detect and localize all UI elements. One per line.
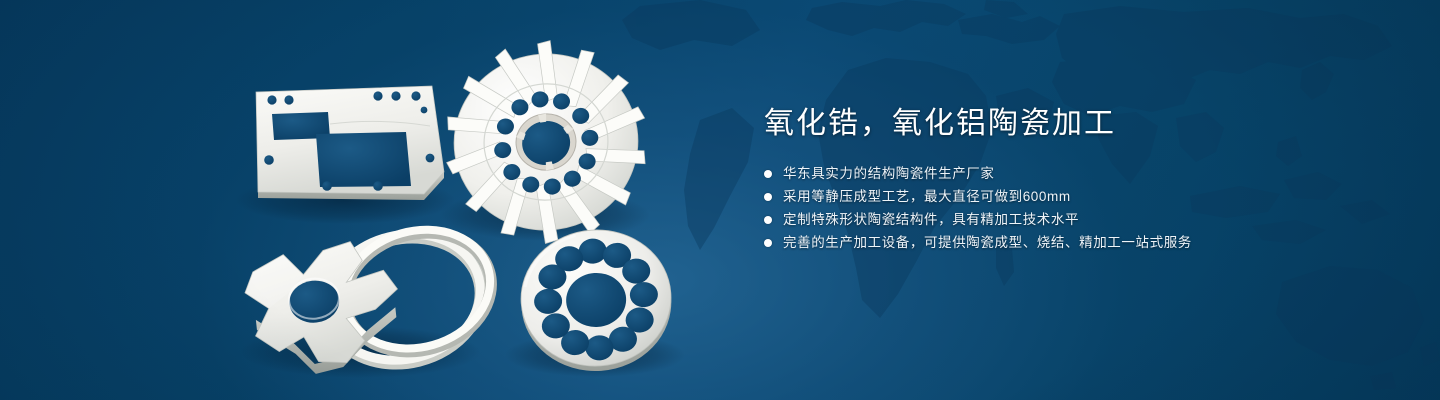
feature-list-item: 定制特殊形状陶瓷结构件，具有精加工技术水平 bbox=[764, 208, 1404, 231]
feature-text: 华东具实力的结构陶瓷件生产厂家 bbox=[783, 162, 995, 185]
hero-banner: 氧化锆，氧化铝陶瓷加工 华东具实力的结构陶瓷件生产厂家 采用等静压成型工艺，最大… bbox=[0, 0, 1440, 400]
ceramic-plate-product bbox=[256, 86, 444, 200]
feature-text: 定制特殊形状陶瓷结构件，具有精加工技术水平 bbox=[783, 208, 1079, 231]
feature-list-item: 华东具实力的结构陶瓷件生产厂家 bbox=[764, 162, 1404, 185]
bullet-dot-icon bbox=[764, 170, 772, 178]
feature-text: 完善的生产加工设备，可提供陶瓷成型、烧结、精加工一站式服务 bbox=[783, 231, 1192, 254]
feature-list-item: 采用等静压成型工艺，最大直径可做到600mm bbox=[764, 185, 1404, 208]
bullet-dot-icon bbox=[764, 193, 772, 201]
product-photo-collage bbox=[0, 0, 740, 400]
feature-list-item: 完善的生产加工设备，可提供陶瓷成型、烧结、精加工一站式服务 bbox=[764, 231, 1404, 254]
feature-text: 采用等静压成型工艺，最大直径可做到600mm bbox=[783, 185, 1071, 208]
banner-copy: 氧化锆，氧化铝陶瓷加工 华东具实力的结构陶瓷件生产厂家 采用等静压成型工艺，最大… bbox=[764, 104, 1404, 254]
bullet-dot-icon bbox=[764, 216, 772, 224]
bullet-dot-icon bbox=[764, 239, 772, 247]
banner-headline: 氧化锆，氧化铝陶瓷加工 bbox=[764, 104, 1404, 144]
feature-list: 华东具实力的结构陶瓷件生产厂家 采用等静压成型工艺，最大直径可做到600mm 定… bbox=[764, 162, 1404, 254]
